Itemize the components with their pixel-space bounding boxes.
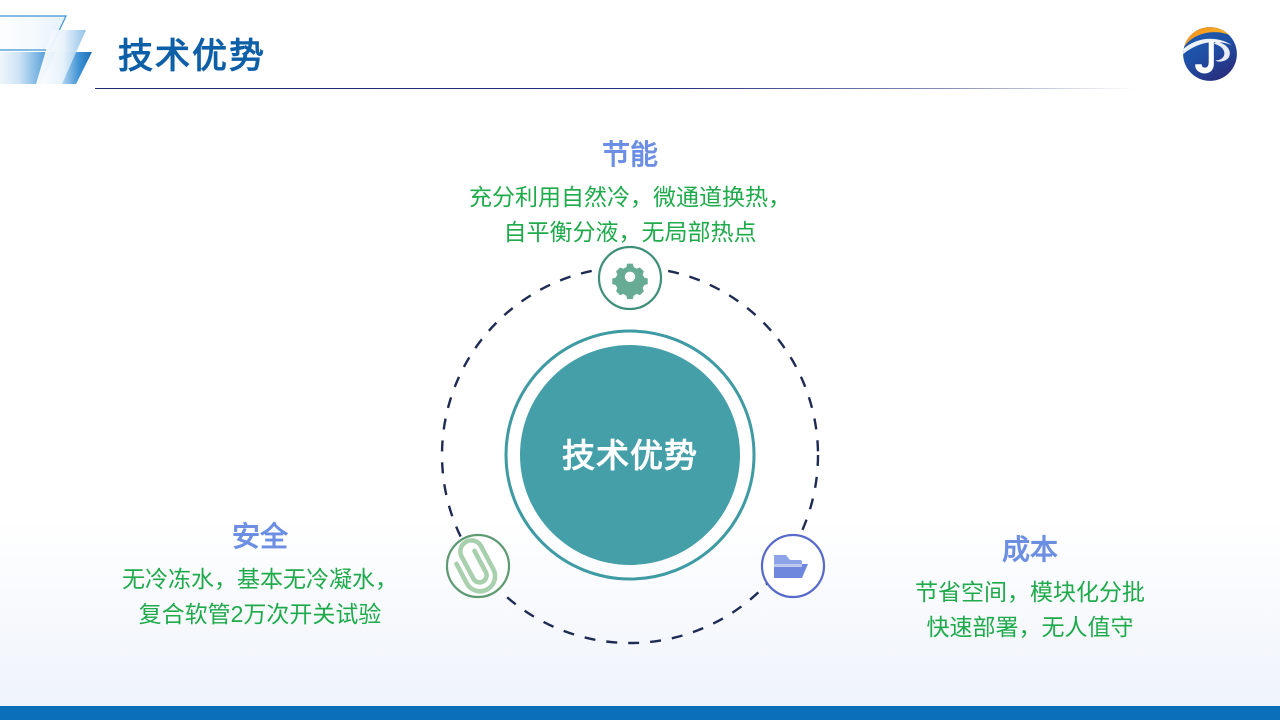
node-gear[interactable] — [599, 247, 661, 309]
feature-line: 自平衡分液，无局部热点 — [370, 215, 890, 251]
feature-line: 快速部署，无人值守 — [800, 610, 1260, 646]
feature-block-top: 节能 充分利用自然冷，微通道换热， 自平衡分液，无局部热点 — [370, 138, 890, 251]
slide-header: 技术优势 — [0, 0, 1280, 95]
feature-line: 无冷冻水，基本无冷凝水， — [30, 562, 490, 598]
slide: 技术优势 — [0, 0, 1280, 720]
feature-line: 复合软管2万次开关试验 — [30, 597, 490, 633]
feature-title-left: 安全 — [30, 520, 490, 554]
feature-block-left: 安全 无冷冻水，基本无冷凝水， 复合软管2万次开关试验 — [30, 520, 490, 633]
feature-line: 节省空间，模块化分批 — [800, 575, 1260, 611]
core-label: 技术优势 — [562, 437, 698, 474]
company-logo — [1178, 22, 1242, 86]
page-title: 技术优势 — [118, 28, 266, 79]
footer-bar — [0, 706, 1280, 720]
feature-title-top: 节能 — [370, 138, 890, 172]
feature-line: 充分利用自然冷，微通道换热， — [370, 180, 890, 216]
feature-block-right: 成本 节省空间，模块化分批 快速部署，无人值守 — [800, 533, 1260, 646]
feature-title-right: 成本 — [800, 533, 1260, 567]
header-divider — [95, 88, 1135, 89]
